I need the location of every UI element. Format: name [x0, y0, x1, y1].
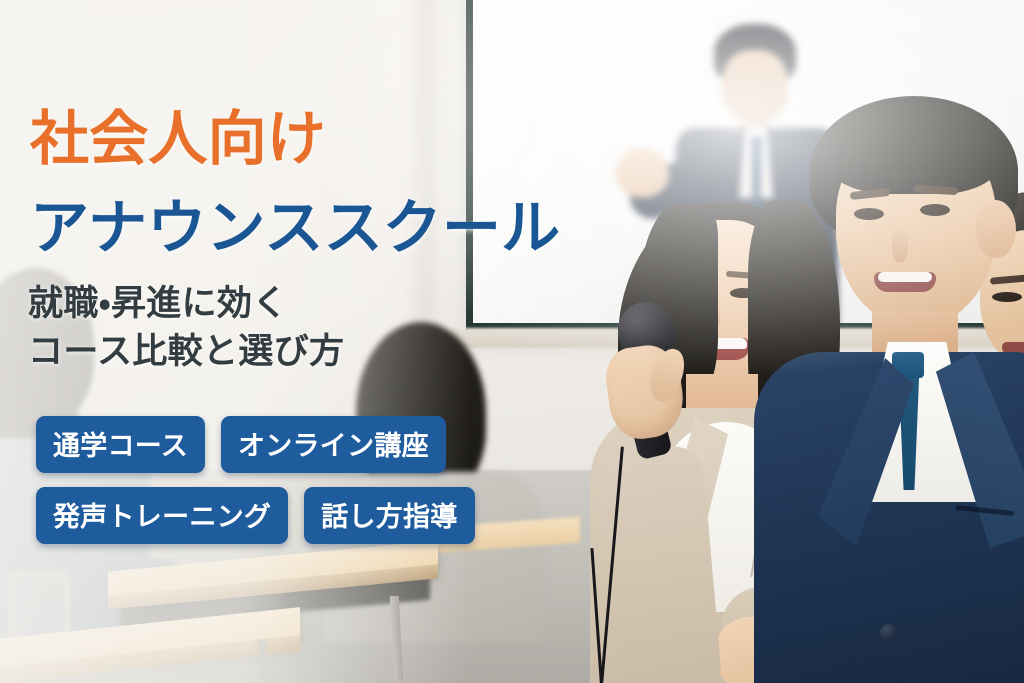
badge-online-course[interactable]: オンライン講座 [221, 416, 446, 473]
badge-tsugaku-course[interactable]: 通学コース [36, 416, 205, 473]
subheadline-line-2: コース比較と選び方 [28, 328, 344, 376]
text-overlay: 社会人向け アナウンススクール 就職・昇進に効く コース比較と選び方 通学コース… [0, 0, 1024, 683]
headline-line-2: アナウンススクール [30, 197, 560, 260]
badge-speaking-guidance[interactable]: 話し方指導 [304, 487, 474, 544]
headline-block: 社会人向け アナウンススクール [30, 108, 560, 259]
subheadline-block: 就職・昇進に効く コース比較と選び方 [28, 280, 344, 377]
headline-line-1: 社会人向け [30, 108, 560, 171]
subheadline-line-1: 就職・昇進に効く [28, 280, 344, 328]
badge-voice-training[interactable]: 発声トレーニング [36, 487, 288, 544]
banner-canvas: 社会人向け アナウンススクール 就職・昇進に効く コース比較と選び方 通学コース… [0, 0, 1024, 683]
badge-group: 通学コース オンライン講座 発声トレーニング 話し方指導 [36, 416, 506, 544]
